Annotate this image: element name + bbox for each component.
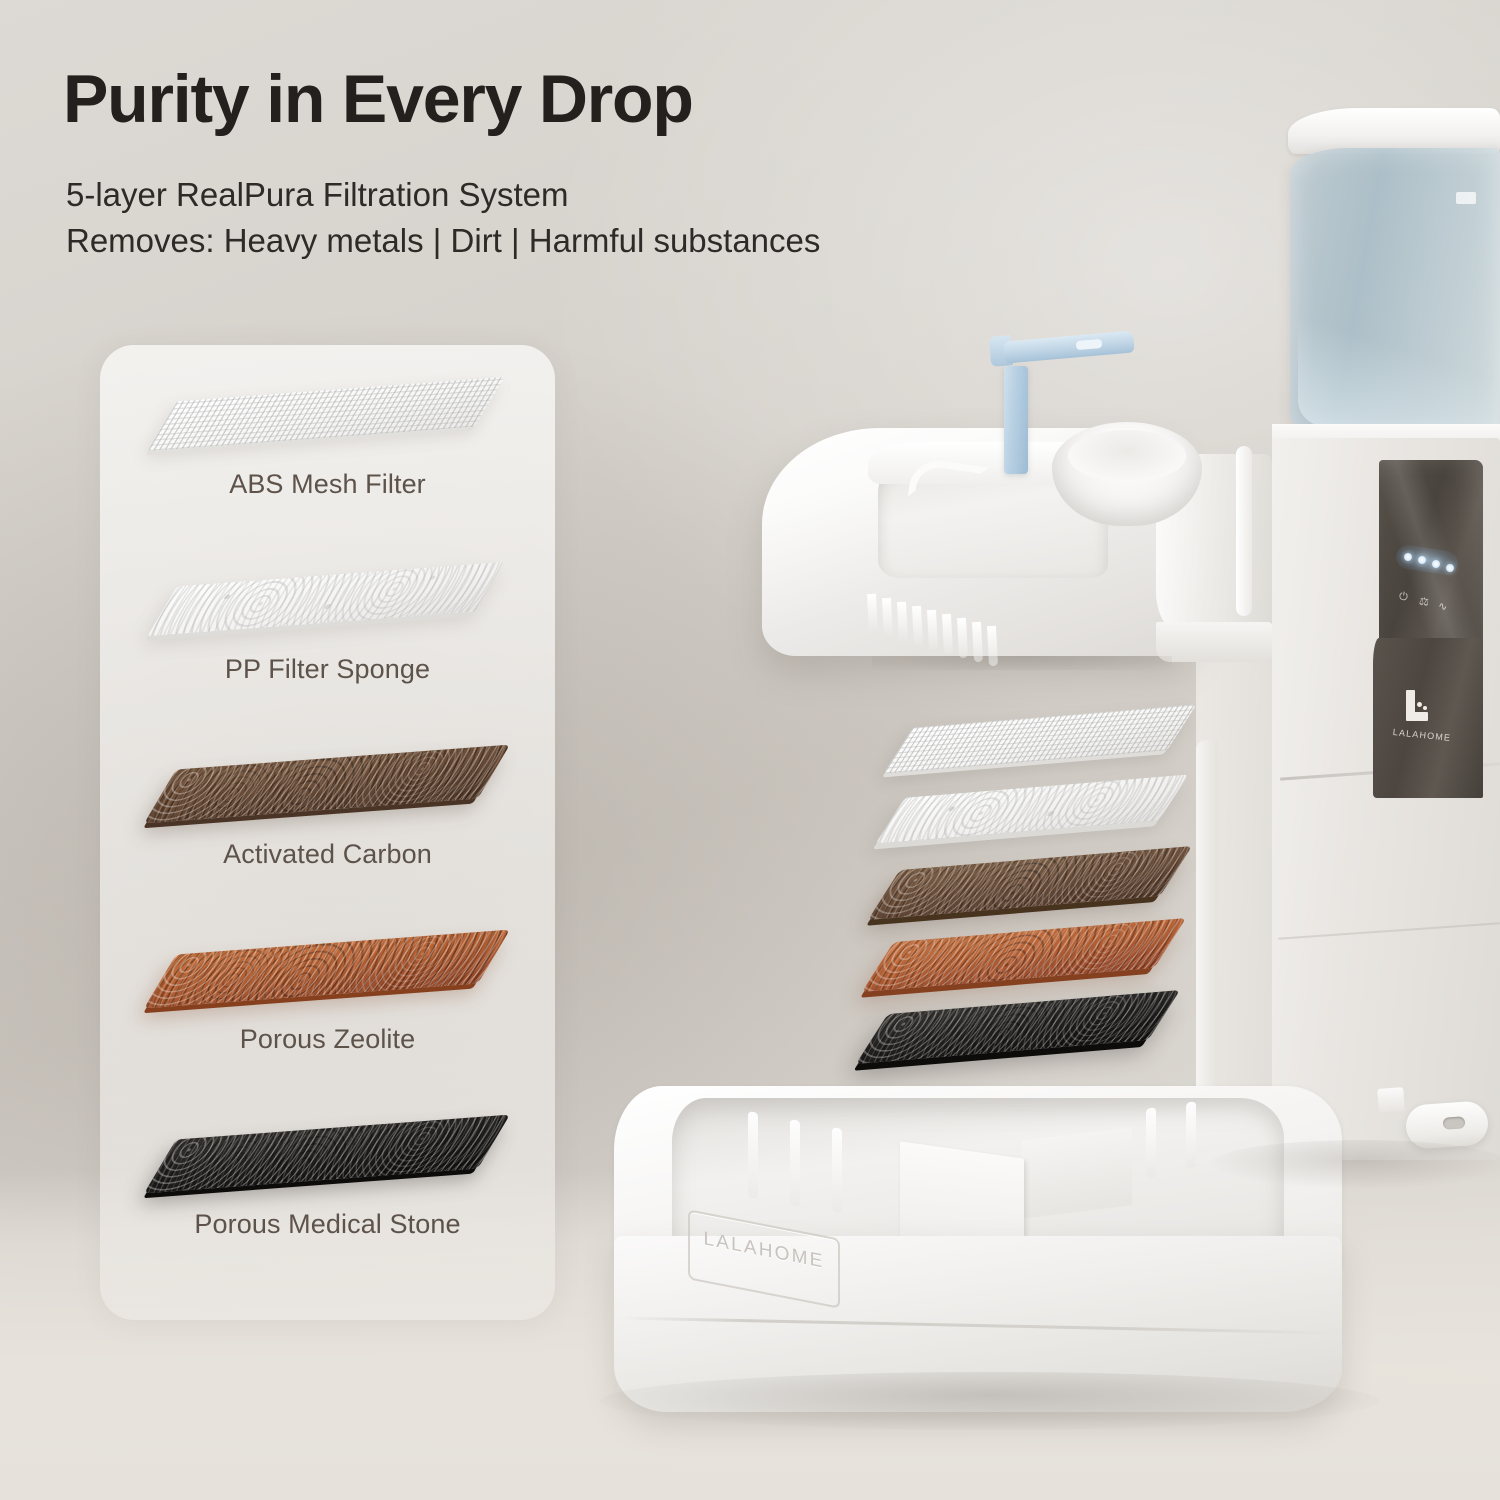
brand-plate [1373, 638, 1483, 798]
power-adapter-tab [1377, 1087, 1405, 1113]
bowl-rib [1146, 1107, 1156, 1178]
spout-stem [1004, 366, 1028, 474]
dispenser-funnel-opening [1068, 430, 1186, 482]
stack-layer-activated-carbon [868, 846, 1192, 920]
water-tank-sheen [1298, 300, 1498, 426]
bowl-partition-rear [1022, 1127, 1132, 1219]
dispenser-head [752, 398, 1312, 698]
dispenser-shadow [872, 656, 1172, 670]
water-tank-clip [1456, 192, 1476, 204]
stack-layer-pp-filter-sponge [875, 774, 1188, 843]
bowl-ground-shadow [600, 1372, 1380, 1430]
device-rear-column [1196, 740, 1218, 1120]
bowl-rib [1186, 1101, 1196, 1168]
lalahome-logo-icon [1398, 690, 1428, 724]
body-ground-shadow [1210, 1140, 1500, 1188]
stack-layer-porous-medical-stone [856, 990, 1180, 1064]
bowl-rib [790, 1119, 800, 1207]
bowl-rib [832, 1127, 842, 1213]
stack-layer-abs-mesh-filter [883, 704, 1196, 773]
dispenser-comb-teeth [868, 594, 1018, 652]
stack-layer-porous-zeolite [862, 918, 1186, 992]
power-adapter-port [1443, 1116, 1466, 1130]
bowl-rib [748, 1111, 758, 1199]
product-infographic: Purity in Every Drop 5-layer RealPura Fi… [0, 0, 1500, 1500]
product-render: ⏻ ⚖ ∿ LALAHOME [0, 0, 1500, 1500]
dispenser-foot [1156, 622, 1272, 662]
dispenser-rib [1236, 446, 1252, 616]
spout-arm [1003, 330, 1134, 363]
